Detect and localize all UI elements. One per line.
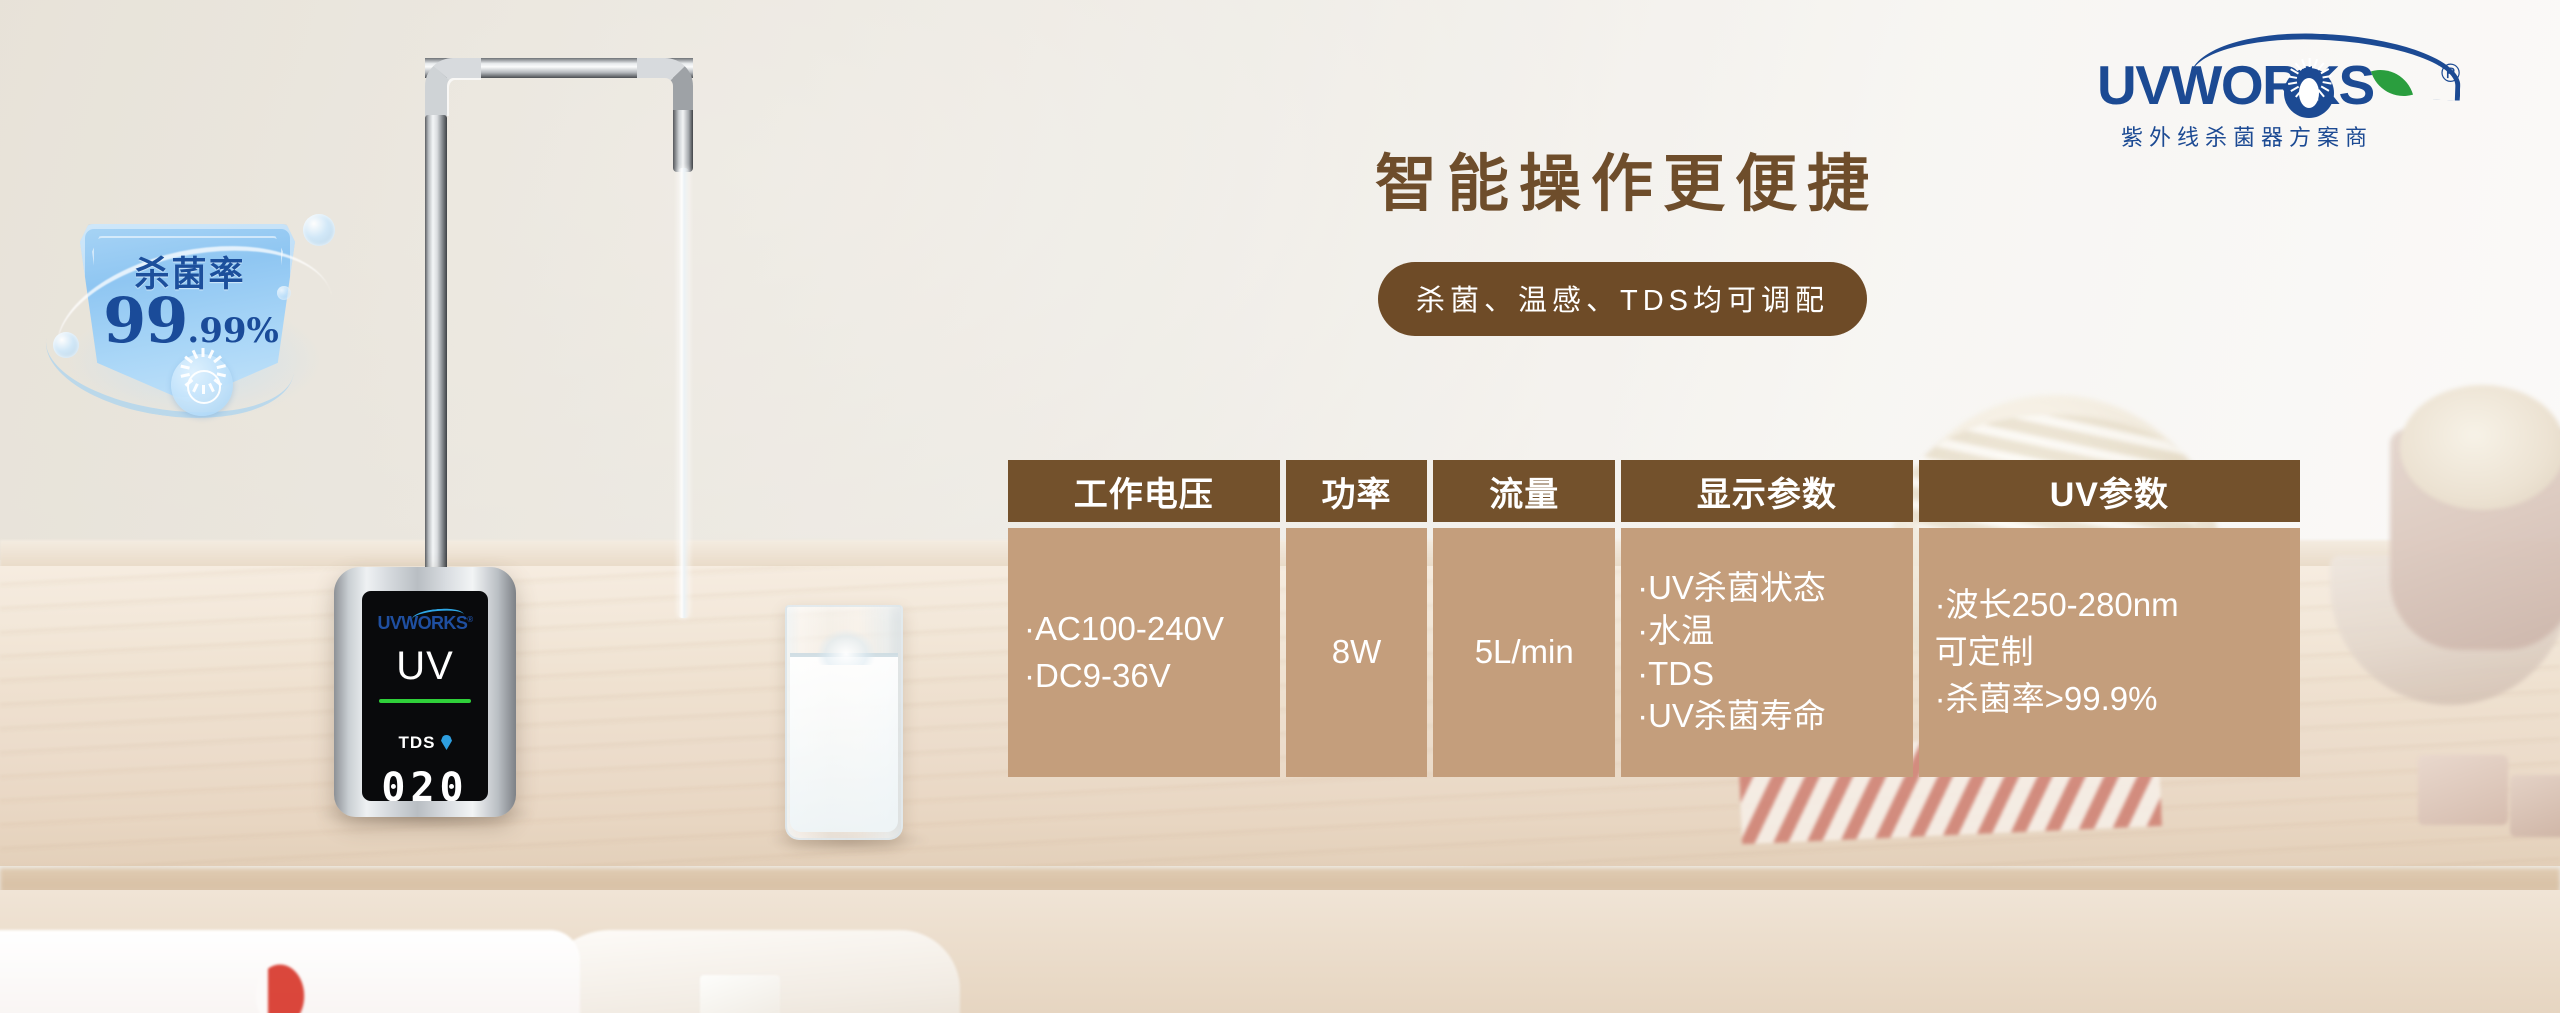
spec-column-header: UV参数 bbox=[1919, 460, 2300, 522]
spec-line: ·波长250-280nm bbox=[1935, 582, 2284, 629]
logo-tagline: 紫外线杀菌器方案商 bbox=[2121, 120, 2441, 152]
spec-column-body: ·波长250-280nm 可定制·杀菌率>99.9% bbox=[1919, 528, 2300, 777]
spec-line: ·水温 bbox=[1637, 610, 1897, 653]
spec-column-header: 流量 bbox=[1433, 460, 1615, 522]
product-banner: 杀菌率 99.99% UVWORKS® UV TDS 020 bbox=[0, 0, 2560, 1013]
spec-line: ·杀菌率>99.9% bbox=[1935, 676, 2284, 723]
spec-column-2: 流量5L/min bbox=[1433, 460, 1615, 777]
screen-tds-value: 020 bbox=[362, 765, 488, 801]
spec-column-header: 显示参数 bbox=[1621, 460, 1913, 522]
spec-column-body: 8W bbox=[1286, 528, 1428, 777]
spec-column-header: 工作电压 bbox=[1008, 460, 1280, 522]
page-title: 智能操作更便捷 bbox=[1375, 133, 1975, 223]
basket-yarn-prop bbox=[2400, 385, 2560, 510]
device-display-screen: UVWORKS® UV TDS 020 bbox=[362, 591, 488, 801]
feature-pill-badge: 杀菌、温感、TDS均可调配 bbox=[1378, 262, 1867, 336]
screen-status-bar bbox=[379, 699, 471, 703]
specification-table: 工作电压·AC100-240V·DC9-36V功率8W流量5L/min显示参数·… bbox=[1008, 460, 2300, 777]
spec-line: ·TDS bbox=[1637, 653, 1897, 696]
spec-column-1: 功率8W bbox=[1286, 460, 1428, 777]
faucet-vertical-column bbox=[425, 115, 447, 585]
screen-mode-label: UV bbox=[362, 646, 488, 686]
brand-logo: UVWORKS ® 紫外线杀菌器方案商 bbox=[2097, 28, 2477, 150]
spec-column-header: 功率 bbox=[1286, 460, 1428, 522]
germ-spikes bbox=[171, 354, 233, 416]
spec-line: ·AC100-240V bbox=[1024, 606, 1264, 653]
spec-line: ·DC9-36V bbox=[1024, 653, 1264, 700]
red-polka-cloth-prop bbox=[0, 930, 580, 1013]
screen-brand-logo: UVWORKS® bbox=[362, 613, 488, 634]
spec-column-body: ·AC100-240V·DC9-36V bbox=[1008, 528, 1280, 777]
badge-value-minor: .99% bbox=[187, 311, 278, 351]
bubble-icon-1 bbox=[303, 214, 335, 246]
glass-water-fill bbox=[790, 655, 898, 832]
bubble-icon-3 bbox=[277, 286, 291, 300]
spec-column-body: 5L/min bbox=[1433, 528, 1615, 777]
spec-line: ·UV杀菌寿命 bbox=[1637, 695, 1897, 738]
badge-value-major: 99 bbox=[103, 284, 187, 357]
spec-column-3: 显示参数·UV杀菌状态·水温·TDS·UV杀菌寿命 bbox=[1621, 460, 1913, 777]
spec-line: ·UV杀菌状态 bbox=[1637, 567, 1897, 610]
spec-line: 可定制 bbox=[1935, 629, 2284, 676]
spec-column-0: 工作电压·AC100-240V·DC9-36V bbox=[1008, 460, 1280, 777]
uv-sterilizer-device: UVWORKS® UV TDS 020 bbox=[334, 567, 516, 817]
sugar-cube-prop bbox=[700, 975, 780, 1013]
badge-value: 99.99% bbox=[45, 284, 337, 357]
cloth-dots bbox=[0, 930, 580, 1013]
water-glass bbox=[785, 605, 903, 840]
water-drop-icon bbox=[441, 735, 452, 750]
logo-registered-mark: ® bbox=[2441, 58, 2460, 89]
bubble-icon-2 bbox=[53, 332, 79, 358]
spec-column-4: UV参数·波长250-280nm 可定制·杀菌率>99.9% bbox=[1919, 460, 2300, 777]
spec-line: 8W bbox=[1332, 629, 1382, 676]
faucet-spout bbox=[673, 110, 693, 172]
water-splash bbox=[817, 629, 875, 665]
spec-column-body: ·UV杀菌状态·水温·TDS·UV杀菌寿命 bbox=[1621, 528, 1913, 777]
sterilization-rate-badge: 杀菌率 99.99% bbox=[45, 210, 345, 430]
water-stream bbox=[678, 168, 689, 618]
spec-line: 5L/min bbox=[1475, 629, 1574, 676]
wooden-block-prop-2 bbox=[2510, 775, 2560, 837]
screen-tds-label: TDS bbox=[399, 733, 436, 752]
wooden-block-prop-1 bbox=[2418, 755, 2508, 825]
germ-icon bbox=[171, 354, 233, 416]
screen-logo-registered: ® bbox=[467, 615, 472, 624]
screen-tds-row: TDS bbox=[362, 733, 488, 753]
faucet-corner-left bbox=[425, 58, 481, 116]
logo-burst-core bbox=[2299, 78, 2319, 108]
